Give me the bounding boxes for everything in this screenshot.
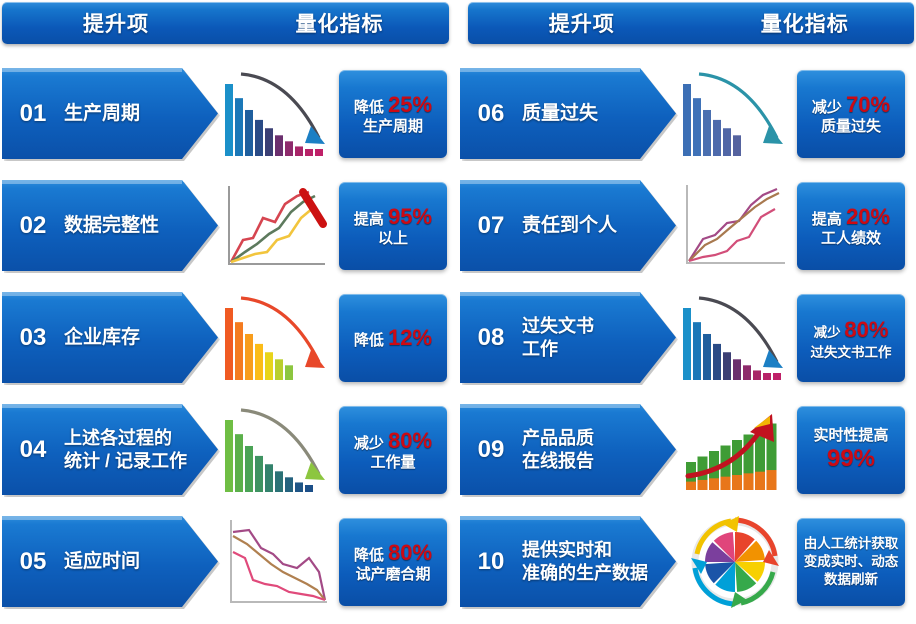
improvement-item-arrow[interactable]: 02数据完整性 bbox=[2, 174, 218, 277]
metric-value: 70% bbox=[846, 92, 890, 117]
line-chart-up-pink-icon bbox=[676, 174, 794, 277]
improvement-item-arrow[interactable]: 01生产周期 bbox=[2, 62, 218, 165]
metric-value: 12% bbox=[388, 325, 432, 350]
metric-prefix: 实时性提高 bbox=[813, 427, 888, 445]
quantified-metric-chip[interactable]: 减少 80%过失文书工作 bbox=[797, 294, 905, 382]
header-right-improvement-item: 提升项 bbox=[468, 8, 695, 38]
row-number: 01 bbox=[2, 100, 64, 128]
metric-headline: 提高 95% bbox=[354, 204, 432, 230]
improvement-row: 10提供实时和准确的生产数据由人工统计获取变成实时、动态数据刷新 bbox=[458, 510, 916, 613]
metric-text: 降低 12% bbox=[354, 325, 432, 351]
row-number: 07 bbox=[460, 212, 522, 240]
quantified-metric-chip[interactable]: 减少 70%质量过失 bbox=[797, 70, 905, 158]
metric-prefix: 减少 bbox=[814, 325, 845, 340]
metric-prefix: 降低 bbox=[354, 547, 388, 564]
metric-value: 20% bbox=[846, 204, 890, 229]
metric-text: 减少 80%工作量 bbox=[354, 428, 432, 472]
improvement-row: 05适应时间降低 80%试产磨合期 bbox=[0, 510, 458, 613]
metric-value: 80% bbox=[388, 540, 432, 565]
quantified-metric-chip[interactable]: 减少 80%工作量 bbox=[339, 406, 447, 494]
metric-value: 25% bbox=[388, 92, 432, 117]
improvement-row: 02数据完整性提高 95%以上 bbox=[0, 174, 458, 277]
metric-headline: 提高 20% bbox=[812, 204, 890, 230]
improvement-row: 09产品品质在线报告实时性提高99% bbox=[458, 398, 916, 501]
header-bar-left: 提升项 量化指标 bbox=[2, 2, 449, 44]
metric-text: 由人工统计获取变成实时、动态数据刷新 bbox=[801, 535, 901, 588]
quantified-metric-chip[interactable]: 降低 12% bbox=[339, 294, 447, 382]
metric-headline: 降低 12% bbox=[354, 325, 432, 351]
row-number: 06 bbox=[460, 100, 522, 128]
metric-subtext: 过失文书工作 bbox=[811, 344, 892, 362]
row-number: 05 bbox=[2, 548, 64, 576]
quantified-metric-chip[interactable]: 由人工统计获取变成实时、动态数据刷新 bbox=[797, 518, 905, 606]
metric-subtext: 生产周期 bbox=[354, 118, 432, 136]
improvement-row: 08过失文书工作减少 80%过失文书工作 bbox=[458, 286, 916, 389]
metric-text: 实时性提高99% bbox=[813, 427, 888, 474]
improvement-item-label: 产品品质在线报告 bbox=[522, 427, 676, 472]
improvement-row: 04上述各过程的统计 / 记录工作减少 80%工作量 bbox=[0, 398, 458, 501]
improvement-item-label: 上述各过程的统计 / 记录工作 bbox=[64, 427, 218, 472]
improvement-item-label: 过失文书工作 bbox=[522, 315, 676, 360]
improvement-item-arrow[interactable]: 04上述各过程的统计 / 记录工作 bbox=[2, 398, 218, 501]
improvement-item-label: 提供实时和准确的生产数据 bbox=[522, 539, 676, 584]
quantified-metric-chip[interactable]: 提高 20%工人绩效 bbox=[797, 182, 905, 270]
line-chart-down-pink-icon bbox=[218, 510, 336, 613]
bar-chart-down-blue-gradient-icon bbox=[676, 62, 794, 165]
improvement-item-arrow[interactable]: 09产品品质在线报告 bbox=[460, 398, 676, 501]
improvement-row: 01生产周期降低 25%生产周期 bbox=[0, 62, 458, 165]
pie-wheel-cycle-icon bbox=[676, 510, 794, 613]
improvement-item-arrow[interactable]: 10提供实时和准确的生产数据 bbox=[460, 510, 676, 613]
bar-chart-down-green-teal-icon bbox=[218, 398, 336, 501]
header-left-quantified-metric: 量化指标 bbox=[230, 8, 449, 38]
metric-prefix: 提高 bbox=[812, 211, 846, 228]
metric-headline: 减少 80% bbox=[811, 315, 892, 344]
improvement-item-arrow[interactable]: 03企业库存 bbox=[2, 286, 218, 389]
header-bar-right: 提升项 量化指标 bbox=[468, 2, 914, 44]
metric-headline: 减少 80% bbox=[354, 428, 432, 454]
bar-chart-up-green-orange-arrow-icon bbox=[676, 398, 794, 501]
metric-text: 提高 20%工人绩效 bbox=[812, 204, 890, 248]
row-number: 10 bbox=[460, 548, 522, 576]
metric-prefix: 提高 bbox=[354, 211, 388, 228]
row-number: 09 bbox=[460, 436, 522, 464]
metric-text: 提高 95%以上 bbox=[354, 204, 432, 248]
improvement-item-label: 数据完整性 bbox=[64, 214, 218, 238]
metric-headline: 降低 25% bbox=[354, 92, 432, 118]
quantified-metric-chip[interactable]: 降低 80%试产磨合期 bbox=[339, 518, 447, 606]
row-number: 03 bbox=[2, 324, 64, 352]
improvement-item-arrow[interactable]: 08过失文书工作 bbox=[460, 286, 676, 389]
improvement-row: 07责任到个人提高 20%工人绩效 bbox=[458, 174, 916, 277]
bar-chart-down-blue-magenta-icon bbox=[676, 286, 794, 389]
improvement-item-label: 责任到个人 bbox=[522, 214, 676, 238]
metric-subtext: 质量过失 bbox=[812, 118, 890, 136]
metric-prefix: 降低 bbox=[354, 332, 388, 349]
metric-value: 80% bbox=[388, 428, 432, 453]
metric-value: 95% bbox=[388, 204, 432, 229]
header-left-improvement-item: 提升项 bbox=[2, 8, 230, 38]
quantified-metric-chip[interactable]: 实时性提高99% bbox=[797, 406, 905, 494]
metric-headline: 降低 80% bbox=[354, 540, 432, 566]
quantified-metric-chip[interactable]: 提高 95%以上 bbox=[339, 182, 447, 270]
improvement-item-arrow[interactable]: 07责任到个人 bbox=[460, 174, 676, 277]
bar-chart-down-orange-green-icon bbox=[218, 286, 336, 389]
row-number: 04 bbox=[2, 436, 64, 464]
metric-subtext: 试产磨合期 bbox=[354, 566, 432, 584]
line-chart-up-multicolor-icon bbox=[218, 174, 336, 277]
improvement-row: 03企业库存降低 12% bbox=[0, 286, 458, 389]
improvement-item-label: 企业库存 bbox=[64, 326, 218, 350]
improvement-item-label: 生产周期 bbox=[64, 102, 218, 126]
quantified-metric-chip[interactable]: 降低 25%生产周期 bbox=[339, 70, 447, 158]
metric-prefix: 减少 bbox=[812, 99, 846, 116]
infographic-board: 提升项 量化指标 提升项 量化指标 01生产周期降低 25%生产周期02数据完整… bbox=[0, 0, 916, 624]
metric-headline: 减少 70% bbox=[812, 92, 890, 118]
metric-text: 减少 70%质量过失 bbox=[812, 92, 890, 136]
metric-value: 80% bbox=[844, 317, 888, 342]
improvement-row: 06质量过失减少 70%质量过失 bbox=[458, 62, 916, 165]
bar-chart-down-blue-magenta-icon bbox=[218, 62, 336, 165]
metric-text: 降低 25%生产周期 bbox=[354, 92, 432, 136]
metric-prefix: 减少 bbox=[354, 435, 388, 452]
header-right-quantified-metric: 量化指标 bbox=[695, 8, 914, 38]
metric-text: 减少 80%过失文书工作 bbox=[811, 315, 892, 362]
improvement-item-arrow[interactable]: 06质量过失 bbox=[460, 62, 676, 165]
improvement-item-label: 适应时间 bbox=[64, 550, 218, 574]
improvement-item-arrow[interactable]: 05适应时间 bbox=[2, 510, 218, 613]
metric-subtext: 工人绩效 bbox=[812, 230, 890, 248]
metric-description: 由人工统计获取变成实时、动态数据刷新 bbox=[804, 536, 899, 587]
row-number: 08 bbox=[460, 324, 522, 352]
metric-subtext: 工作量 bbox=[354, 454, 432, 472]
improvement-item-label: 质量过失 bbox=[522, 102, 676, 126]
metric-text: 降低 80%试产磨合期 bbox=[354, 540, 432, 584]
row-number: 02 bbox=[2, 212, 64, 240]
metric-prefix: 降低 bbox=[354, 99, 388, 116]
metric-subtext: 以上 bbox=[354, 230, 432, 248]
metric-value: 99% bbox=[813, 445, 888, 474]
